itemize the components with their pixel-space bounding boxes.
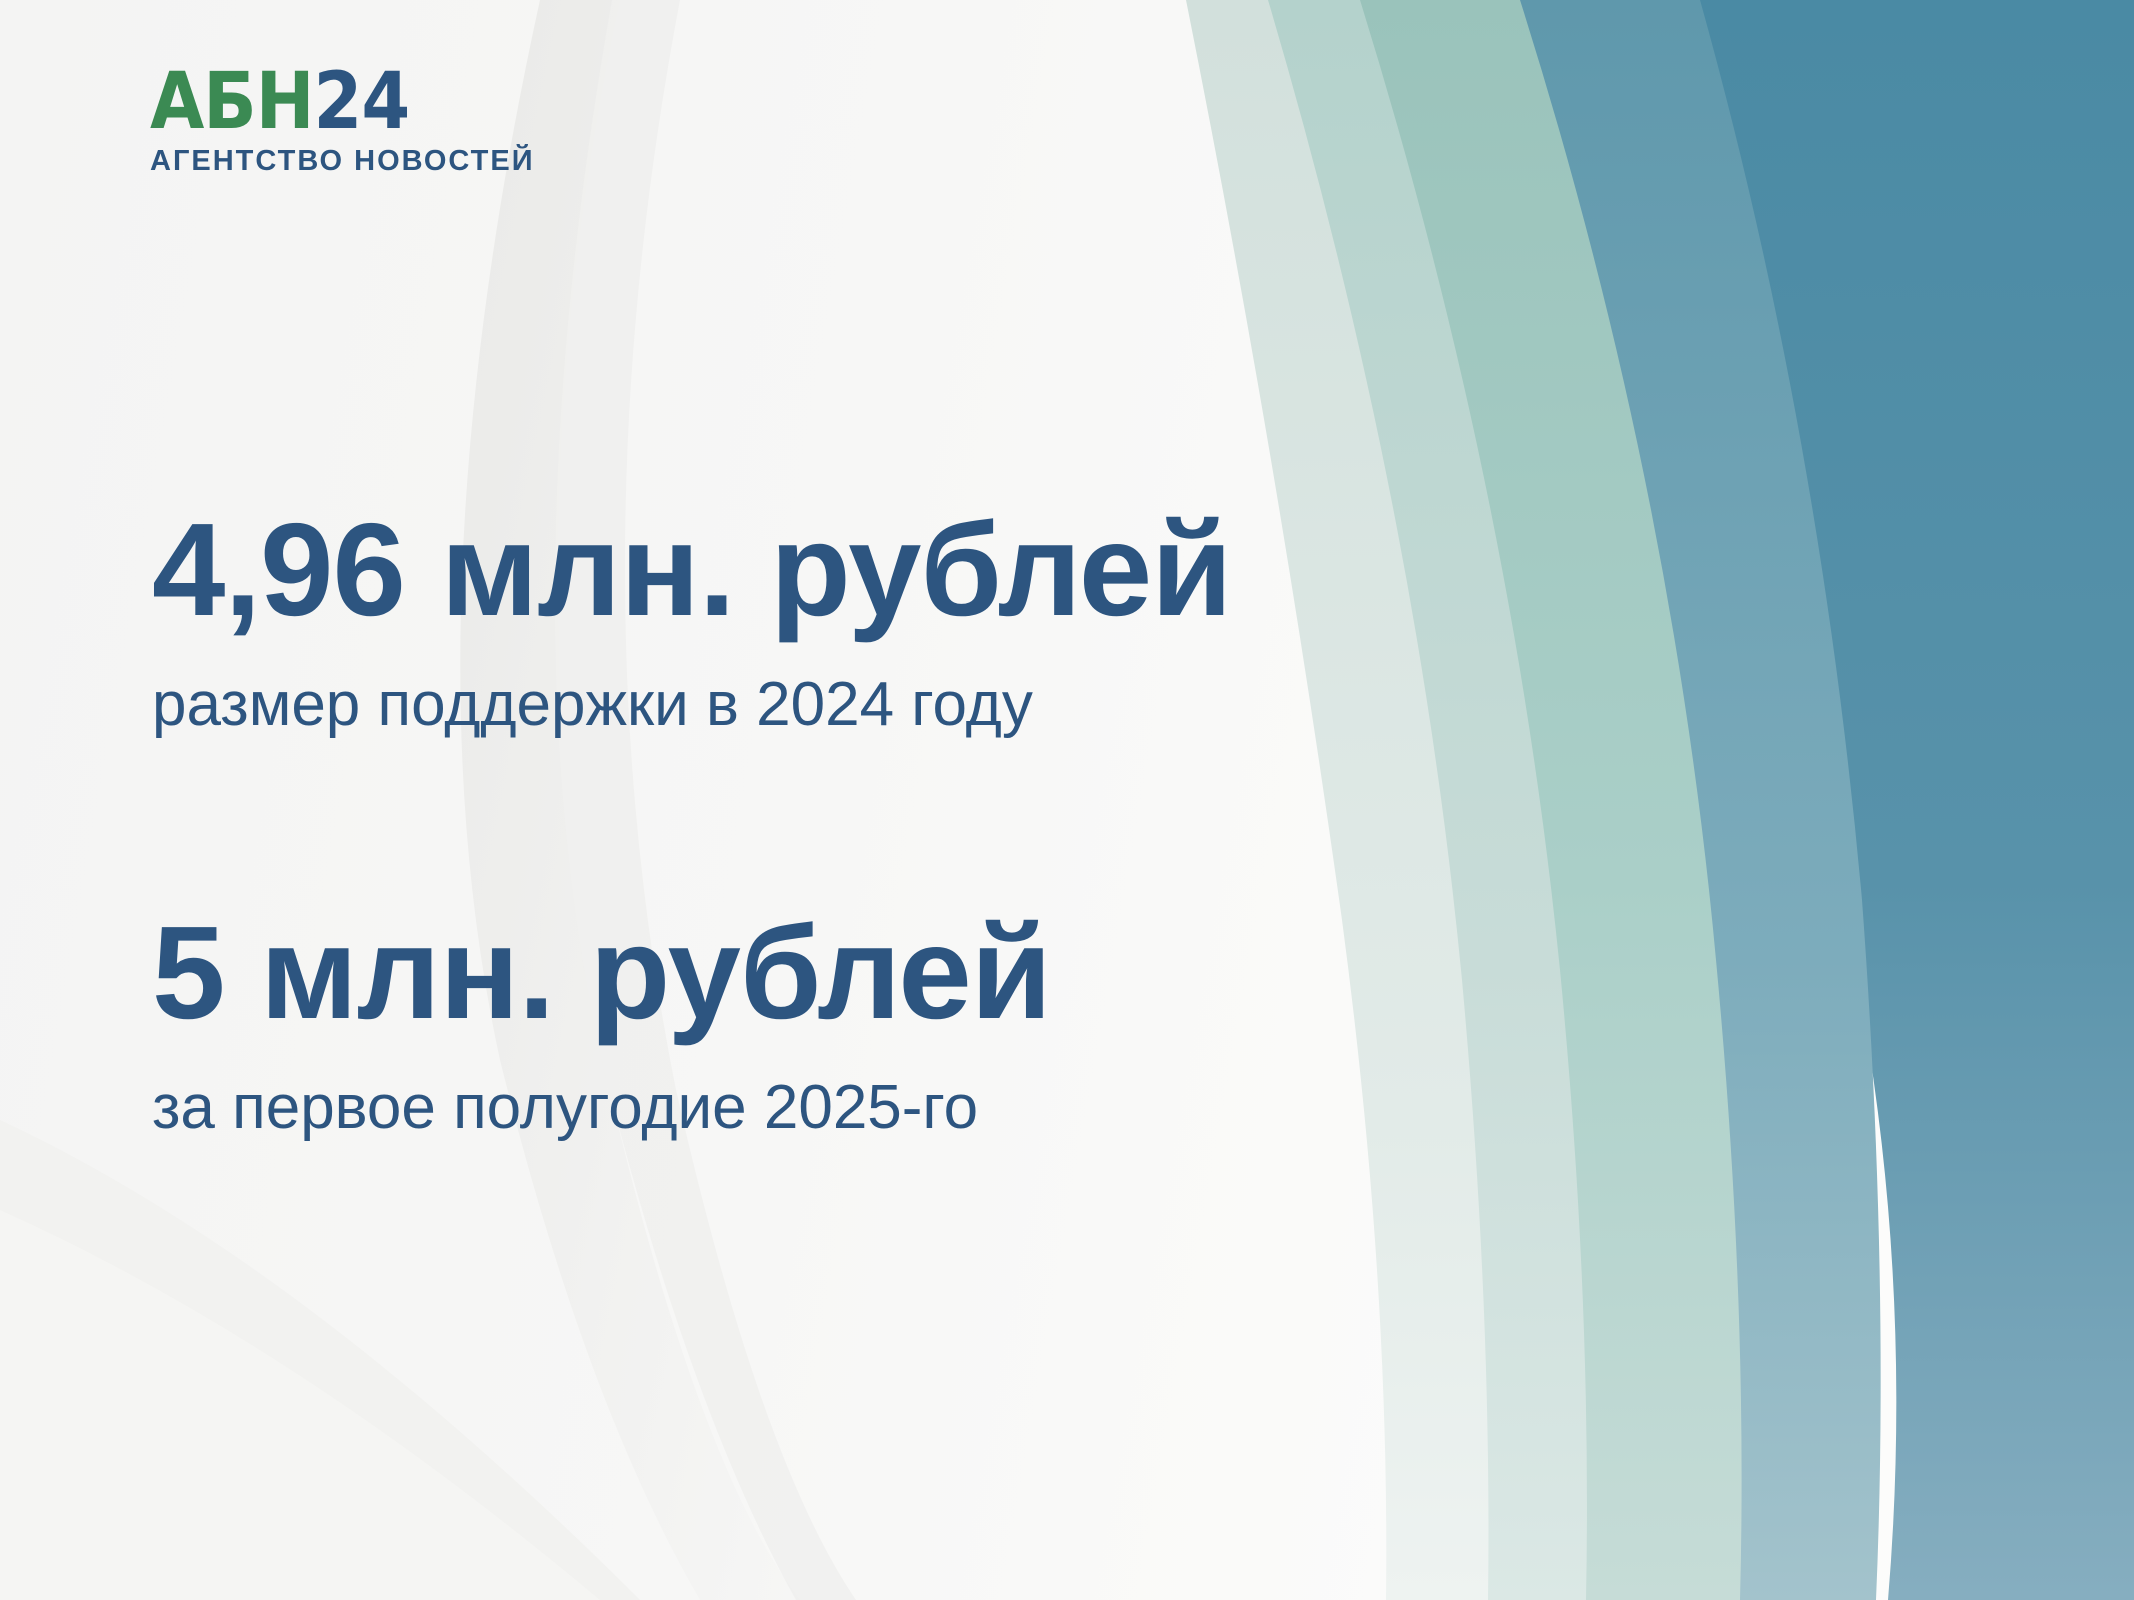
logo-subtitle: АГЕНТСТВО НОВОСТЕЙ: [150, 145, 570, 178]
stat-value: 4,96 млн. рублей: [152, 500, 1482, 640]
stat-caption: за первое полугодие 2025-го: [152, 1069, 1482, 1147]
logo-wordmark: АБН24: [150, 62, 570, 141]
logo-text-abn: АБН: [150, 57, 314, 147]
stat-value: 5 млн. рублей: [152, 903, 1482, 1043]
stat-block: 5 млн. рублей за первое полугодие 2025-г…: [152, 903, 1482, 1146]
brand-logo[interactable]: АБН24 АГЕНТСТВО НОВОСТЕЙ: [150, 62, 570, 178]
swoosh-bottom-sliver: [0, 1210, 600, 1600]
stat-block: 4,96 млн. рублей размер поддержки в 2024…: [152, 500, 1482, 743]
stat-caption: размер поддержки в 2024 году: [152, 666, 1482, 744]
logo-text-24: 24: [314, 57, 410, 147]
infographic-card: АБН24 АГЕНТСТВО НОВОСТЕЙ 4,96 млн. рубле…: [0, 0, 2134, 1600]
stats-container: 4,96 млн. рублей размер поддержки в 2024…: [152, 500, 1482, 1147]
